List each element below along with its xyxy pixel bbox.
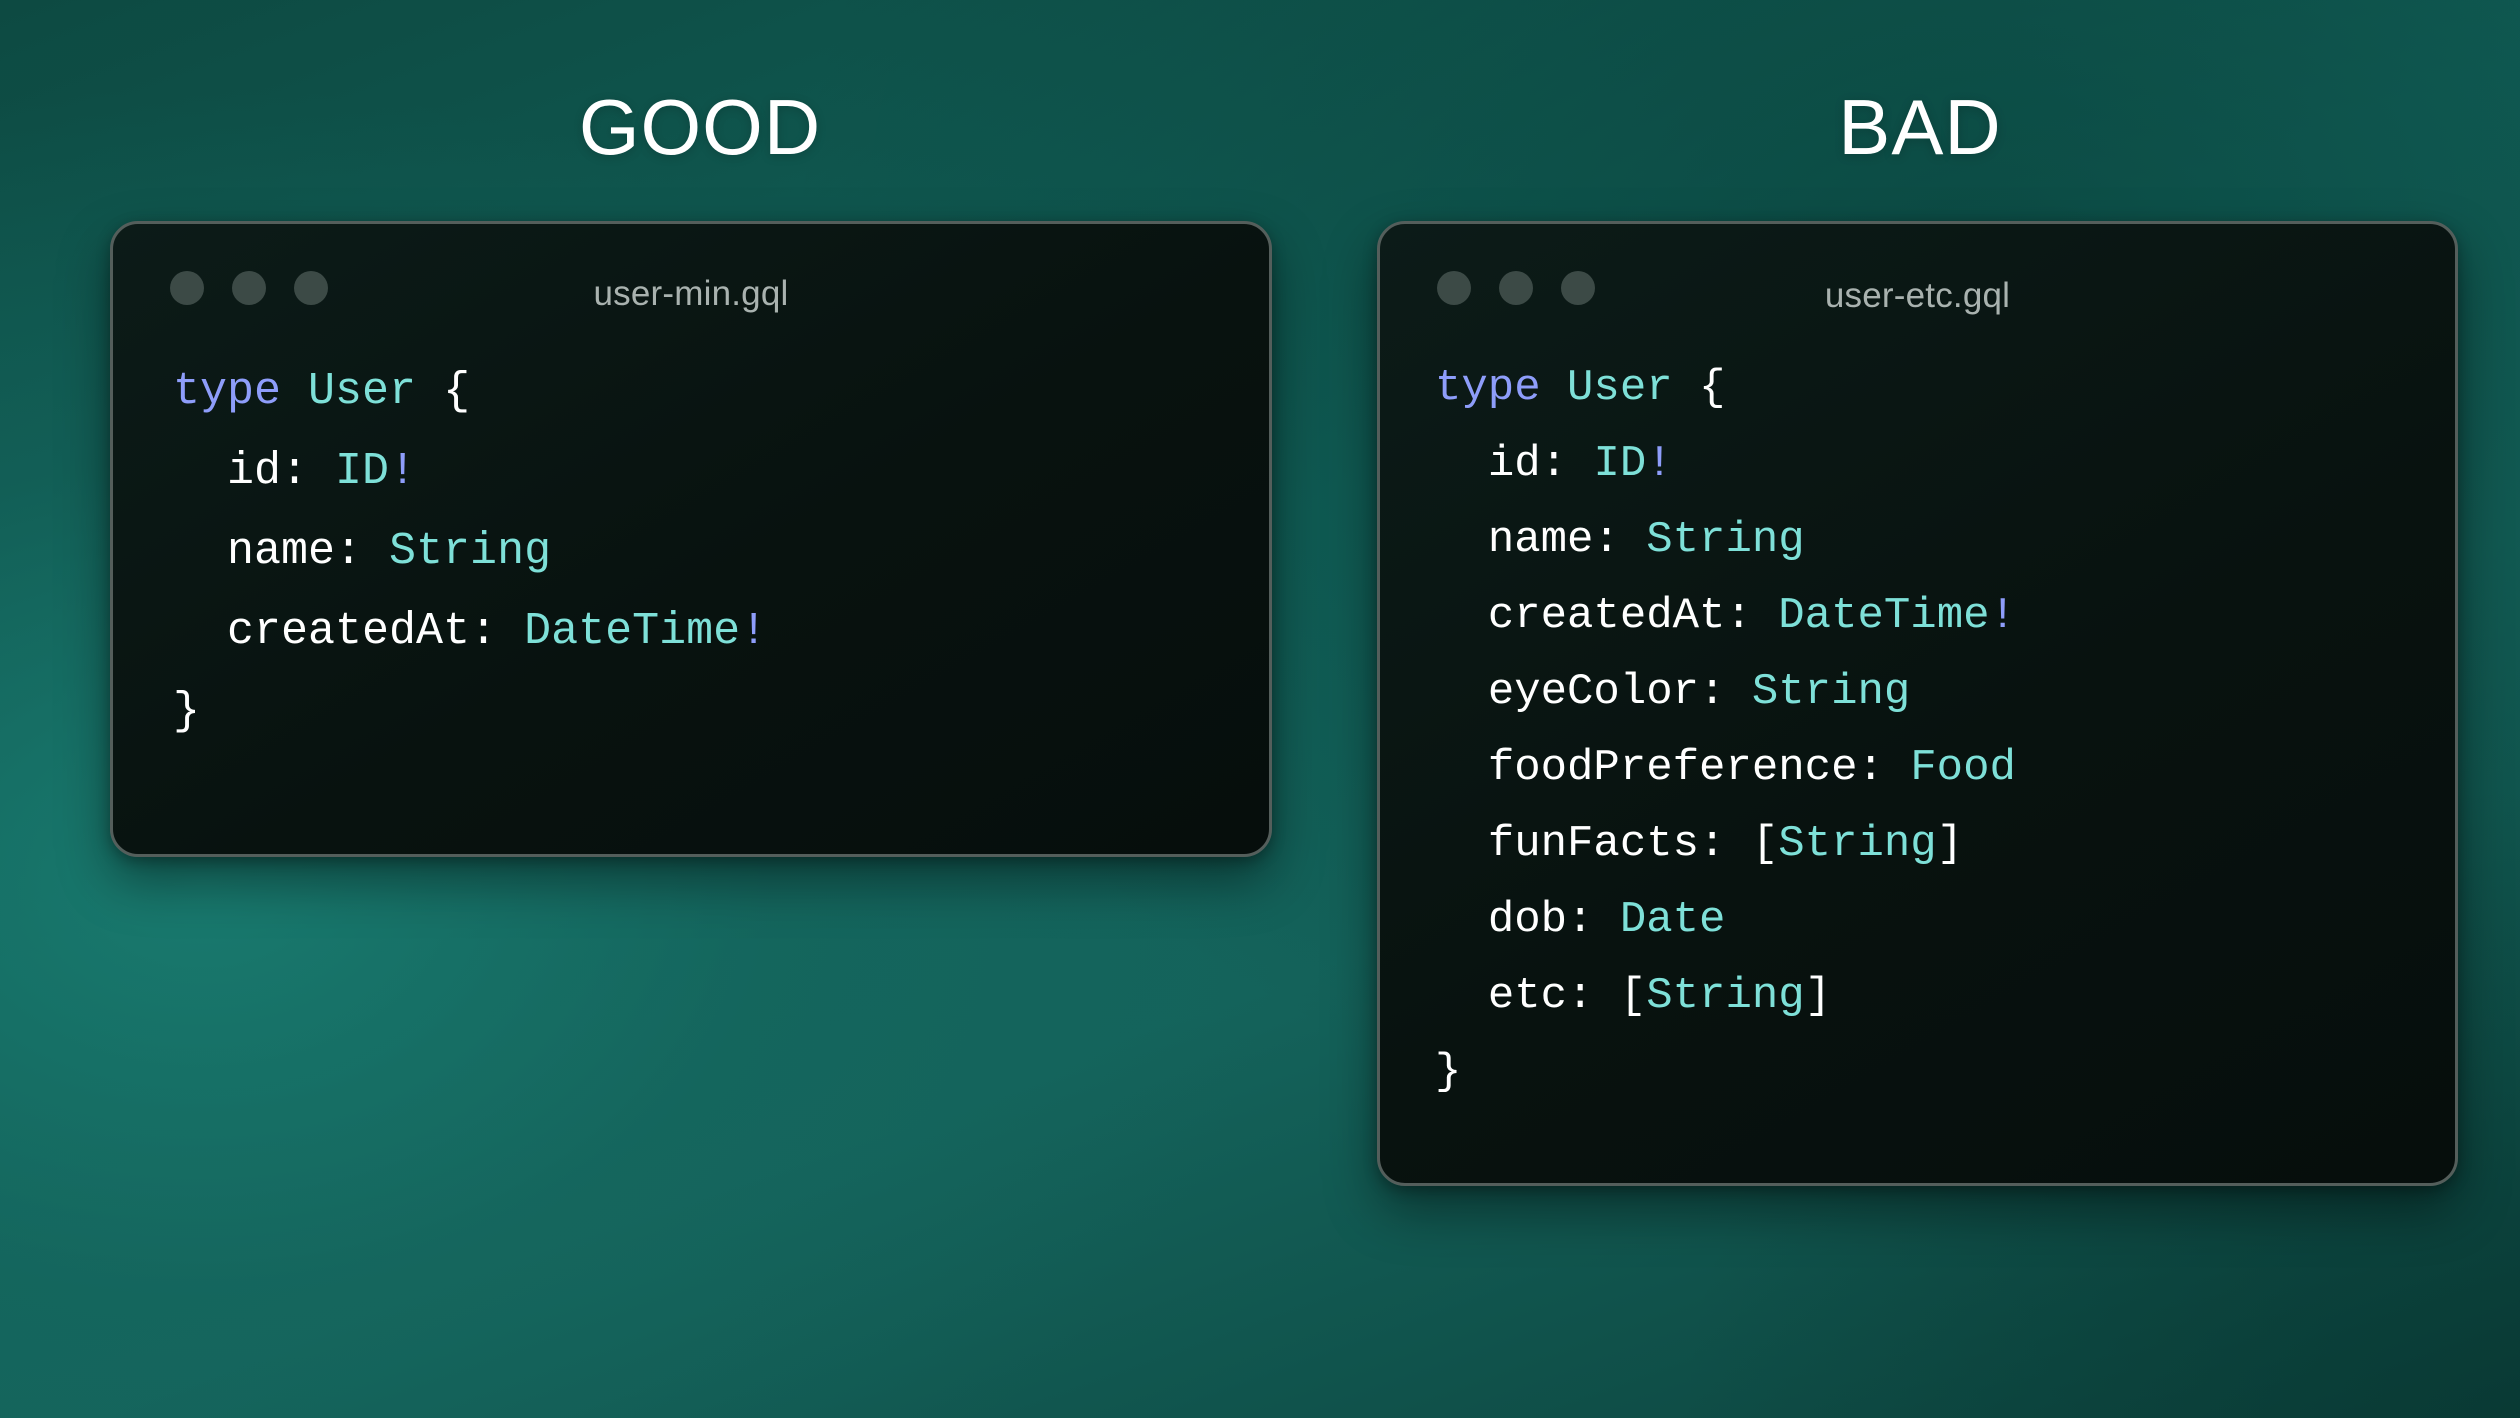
code-token-bang: ! <box>1646 439 1672 489</box>
code-line: foodPreference: Food <box>1435 730 2455 806</box>
code-line: eyeColor: String <box>1435 654 2455 730</box>
code-line: } <box>1435 1034 2455 1110</box>
code-token-plain: { <box>1673 363 1726 413</box>
card-titlebar-good: user-min.gql <box>113 224 1269 342</box>
code-indent <box>1435 515 1488 565</box>
code-line: name: String <box>173 512 1269 592</box>
code-token-type: User <box>308 366 416 417</box>
column-heading-bad: BAD <box>1380 88 2460 166</box>
code-line: dob: Date <box>1435 882 2455 958</box>
code-token-type: Date <box>1620 895 1726 945</box>
code-line: etc: [String] <box>1435 958 2455 1034</box>
code-line: type User { <box>173 352 1269 432</box>
card-titlebar-bad: user-etc.gql <box>1380 224 2455 342</box>
code-indent <box>173 446 227 497</box>
code-block-bad: type User { id: ID! name: String created… <box>1380 342 2455 1110</box>
code-token-type: String <box>1646 971 1804 1021</box>
code-token-plain: etc: [ <box>1488 971 1646 1021</box>
code-token-plain: funFacts: [ <box>1488 819 1778 869</box>
code-token-plain: ] <box>1937 819 1963 869</box>
code-indent <box>1435 743 1488 793</box>
code-token-bang: ! <box>740 606 767 657</box>
column-heading-good: GOOD <box>110 88 1290 166</box>
code-token-plain: dob: <box>1488 895 1620 945</box>
code-line: id: ID! <box>173 432 1269 512</box>
code-token-plain: } <box>1435 1047 1461 1097</box>
code-token-type: String <box>1778 819 1936 869</box>
code-indent <box>173 526 227 577</box>
filename-label-good: user-min.gql <box>113 274 1269 314</box>
code-token-plain: createdAt: <box>227 606 524 657</box>
code-card-good: user-min.gql type User { id: ID! name: S… <box>110 221 1272 857</box>
code-indent <box>1435 439 1488 489</box>
code-token-kw: type <box>1435 363 1541 413</box>
code-token-type: ID <box>335 446 389 497</box>
filename-label-bad: user-etc.gql <box>1380 276 2455 316</box>
code-line: type User { <box>1435 350 2455 426</box>
code-token-plain: name: <box>1488 515 1646 565</box>
code-token-plain: name: <box>227 526 389 577</box>
code-token-plain: createdAt: <box>1488 591 1778 641</box>
code-token-type: DateTime <box>1778 591 1989 641</box>
code-token-plain: foodPreference: <box>1488 743 1910 793</box>
code-token-plain: } <box>173 686 200 737</box>
code-indent <box>1435 895 1488 945</box>
code-indent <box>1435 971 1488 1021</box>
code-indent <box>1435 667 1488 717</box>
code-token-plain: id: <box>1488 439 1594 489</box>
code-token-bang: ! <box>389 446 416 497</box>
code-indent <box>173 606 227 657</box>
code-token-type: User <box>1567 363 1673 413</box>
code-token-plain: eyeColor: <box>1488 667 1752 717</box>
code-token-plain: { <box>416 366 470 417</box>
code-token-type: String <box>1646 515 1804 565</box>
code-token-type: Food <box>1910 743 2016 793</box>
code-line: name: String <box>1435 502 2455 578</box>
code-token-type: String <box>389 526 551 577</box>
code-token-kw: type <box>173 366 281 417</box>
code-token-plain: ] <box>1805 971 1831 1021</box>
code-token-type: ID <box>1593 439 1646 489</box>
code-indent <box>1435 819 1488 869</box>
code-token-plain: id: <box>227 446 335 497</box>
code-token-plain <box>281 366 308 417</box>
code-block-good: type User { id: ID! name: String created… <box>113 342 1269 752</box>
code-token-bang: ! <box>1990 591 2016 641</box>
code-line: createdAt: DateTime! <box>1435 578 2455 654</box>
code-token-plain <box>1541 363 1567 413</box>
code-indent <box>1435 591 1488 641</box>
code-line: createdAt: DateTime! <box>173 592 1269 672</box>
comparison-stage: GOOD user-min.gql type User { id: ID! na… <box>0 0 2520 1418</box>
code-card-bad: user-etc.gql type User { id: ID! name: S… <box>1377 221 2458 1186</box>
code-token-type: String <box>1752 667 1910 717</box>
code-line: funFacts: [String] <box>1435 806 2455 882</box>
code-line: } <box>173 672 1269 752</box>
code-line: id: ID! <box>1435 426 2455 502</box>
code-token-type: DateTime <box>524 606 740 657</box>
